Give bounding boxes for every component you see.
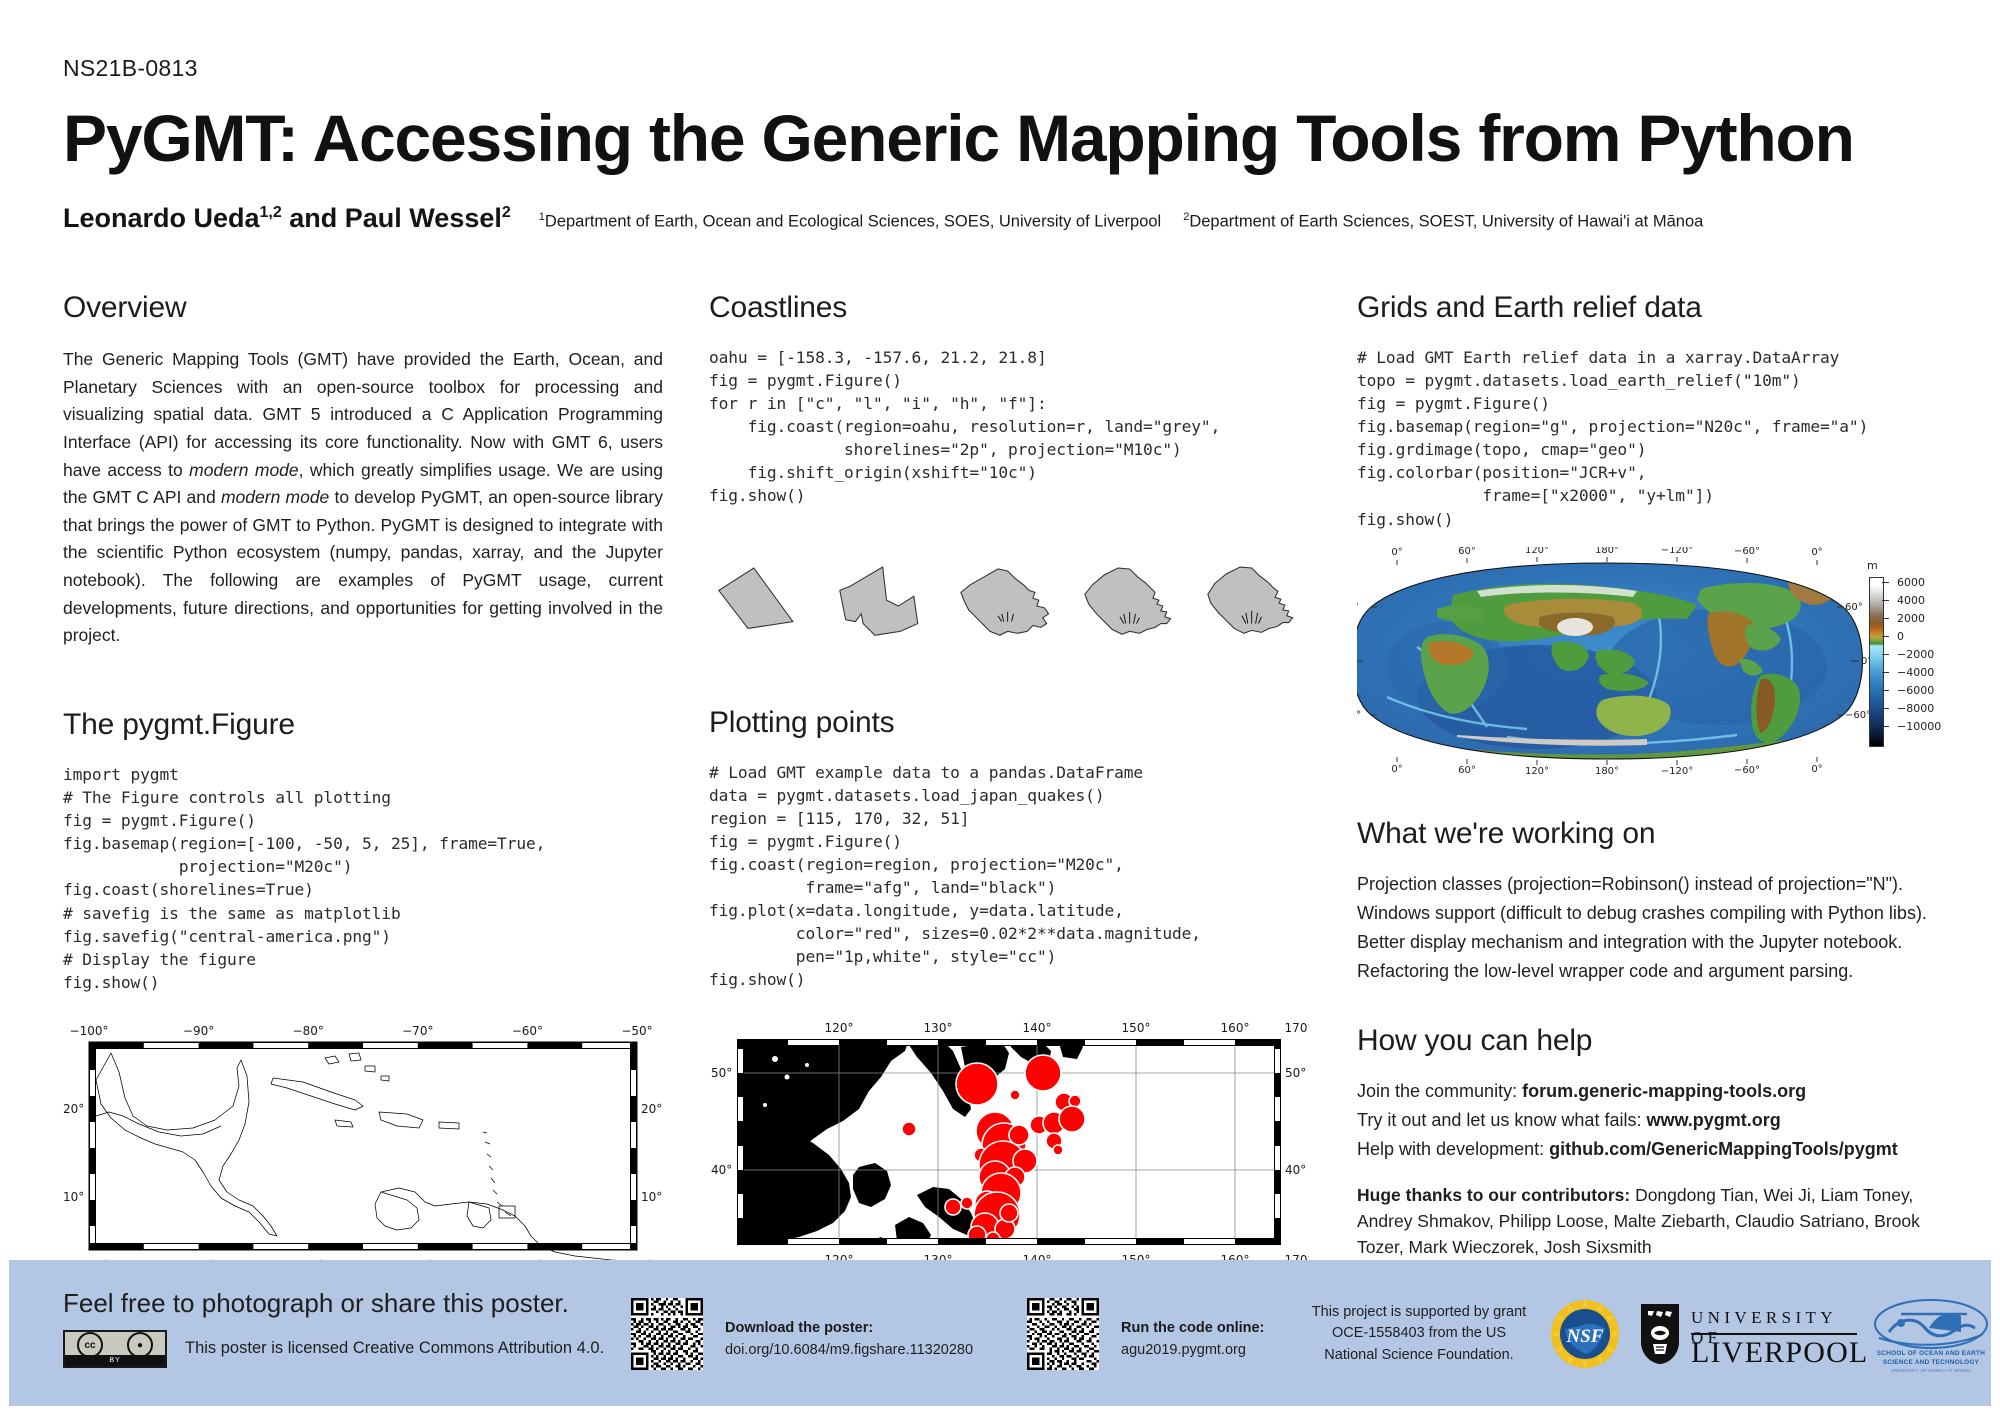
- central-america-map: −100°−90° −80°−70° −60°−50° −100°−90° −8…: [63, 1020, 663, 1273]
- colorbar-label-0: 0: [1897, 630, 1904, 643]
- affil-2-text: Department of Earth Sciences, SOEST, Uni…: [1189, 213, 1703, 231]
- soest-line-1: SCHOOL OF OCEAN AND EARTH SCIENCE AND TE…: [1871, 1350, 1991, 1367]
- working-on-item-2: Windows support (difficult to debug cras…: [1357, 899, 1957, 928]
- japan-quakes-map: 120°130°140° 150°160°170° 120°130°140° 1…: [709, 1017, 1309, 1269]
- author-list: Leonardo Ueda1,2 and Paul Wessel2: [63, 203, 511, 234]
- qr-code-runcode-icon[interactable]: [1027, 1298, 1099, 1370]
- svg-text:40°: 40°: [711, 1163, 732, 1177]
- share-poster-title: Feel free to photograph or share this po…: [63, 1288, 569, 1319]
- svg-text:130°: 130°: [924, 1021, 953, 1035]
- overview-emphasis-2: modern mode: [221, 487, 329, 507]
- svg-text:20°: 20°: [641, 1102, 662, 1116]
- svg-text:−90°: −90°: [183, 1024, 214, 1038]
- soest-line-2: UNIVERSITY OF HAWAI'I AT MANOA: [1871, 1368, 1991, 1373]
- svg-text:0°: 0°: [1391, 764, 1402, 775]
- svg-text:180°: 180°: [1595, 766, 1619, 775]
- svg-text:170°: 170°: [1285, 1021, 1309, 1035]
- working-on-item-4: Refactoring the low-level wrapper code a…: [1357, 957, 1957, 986]
- university-of-liverpool-logo: UNIVERSITY OF LIVERPOOL: [1639, 1300, 1859, 1370]
- license-text: This poster is licensed Creative Commons…: [185, 1339, 604, 1358]
- help-label-development: Help with development:: [1357, 1139, 1549, 1159]
- svg-text:0°: 0°: [1391, 547, 1402, 558]
- colorbar-label-minus10000: −10000: [1897, 720, 1941, 733]
- author-ueda: Leonardo Ueda: [63, 203, 260, 233]
- section-heading-overview: Overview: [63, 291, 663, 324]
- qr-code-poster[interactable]: [631, 1298, 703, 1375]
- svg-text:0°: 0°: [1811, 764, 1822, 775]
- svg-text:−60°: −60°: [512, 1024, 543, 1038]
- affil-1-text: Department of Earth, Ocean and Ecologica…: [545, 213, 1161, 231]
- overview-paragraph: The Generic Mapping Tools (GMT) have pro…: [63, 346, 663, 650]
- section-heading-pygmt-figure: The pygmt.Figure: [63, 708, 663, 741]
- code-block-grids: # Load GMT Earth relief data in a xarray…: [1357, 346, 1957, 531]
- oahu-resolution-f: [1202, 562, 1309, 652]
- code-block-pygmt-figure: import pygmt # The Figure controls all p…: [63, 763, 663, 994]
- svg-text:−120°: −120°: [1661, 766, 1693, 775]
- svg-text:60°: 60°: [1458, 765, 1476, 775]
- help-label-community: Join the community:: [1357, 1081, 1522, 1101]
- qr-poster-doi: doi.org/10.6084/m9.figshare.11320280: [725, 1342, 973, 1358]
- oahu-resolution-i: [955, 562, 1062, 652]
- cc-by-label: BY: [65, 1355, 165, 1366]
- section-heading-working-on: What we're working on: [1357, 817, 1957, 850]
- svg-text:60°: 60°: [1458, 547, 1476, 557]
- help-links-list: Join the community: forum.generic-mappin…: [1357, 1077, 1957, 1163]
- overview-emphasis-1: modern mode: [189, 460, 299, 480]
- earth-relief-map-svg: 0°60°120° 180°−120°−60° 0° 0°60°120° 180…: [1357, 547, 1957, 775]
- svg-text:−120°: −120°: [1661, 547, 1693, 556]
- qr-code-runcode[interactable]: [1027, 1298, 1099, 1375]
- section-heading-grids: Grids and Earth relief data: [1357, 291, 1957, 324]
- colorbar-unit-label: m: [1867, 559, 1878, 572]
- cc-icon-label: cc: [84, 1340, 95, 1351]
- oahu-coastline-series: [709, 542, 1309, 652]
- colorbar-label-minus8000: −8000: [1897, 702, 1934, 715]
- liverpool-shield-icon: [1639, 1302, 1681, 1366]
- grant-acknowledgement: This project is supported by grant OCE-1…: [1304, 1302, 1534, 1366]
- help-line-development: Help with development: github.com/Generi…: [1357, 1135, 1957, 1164]
- section-heading-how-to-help: How you can help: [1357, 1024, 1957, 1057]
- svg-text:10°: 10°: [641, 1190, 662, 1204]
- oahu-resolution-l: [832, 562, 939, 652]
- section-heading-coastlines: Coastlines: [709, 291, 1309, 324]
- poster-footer: Feel free to photograph or share this po…: [9, 1260, 1991, 1406]
- section-heading-plotting-points: Plotting points: [709, 706, 1309, 739]
- colorbar: [1869, 577, 1884, 747]
- author-wessel-affil-sup: 2: [502, 204, 511, 221]
- svg-text:50°: 50°: [711, 1066, 732, 1080]
- svg-text:−60°: −60°: [1734, 547, 1760, 557]
- help-link-pygmt[interactable]: www.pygmt.org: [1646, 1110, 1780, 1130]
- svg-text:60°: 60°: [1845, 602, 1863, 613]
- liverpool-divider: [1691, 1333, 1857, 1335]
- colorbar-label-6000: 6000: [1897, 576, 1925, 589]
- svg-text:−70°: −70°: [402, 1024, 433, 1038]
- nsf-logo-label: NSF: [1566, 1326, 1604, 1347]
- author-ueda-affil-sup: 1,2: [260, 204, 282, 221]
- code-block-plotting-points: # Load GMT example data to a pandas.Data…: [709, 761, 1309, 992]
- nsf-logo: NSF: [1549, 1298, 1621, 1370]
- svg-text:−80°: −80°: [293, 1024, 324, 1038]
- svg-text:60°: 60°: [1357, 602, 1359, 613]
- author-conjunction: and Paul Wessel: [282, 203, 502, 233]
- svg-text:−60°: −60°: [1845, 710, 1871, 721]
- colorbar-label-minus6000: −6000: [1897, 684, 1934, 697]
- abstract-id: NS21B-0813: [63, 55, 1937, 82]
- colorbar-label-2000: 2000: [1897, 612, 1925, 625]
- column-right: Grids and Earth relief data # Load GMT E…: [1357, 291, 1957, 1260]
- poster-canvas: NS21B-0813 PyGMT: Accessing the Generic …: [0, 0, 2000, 1415]
- japan-quakes-map-svg: 120°130°140° 150°160°170° 120°130°140° 1…: [709, 1017, 1309, 1269]
- code-block-coastlines: oahu = [-158.3, -157.6, 21.2, 21.8] fig …: [709, 346, 1309, 508]
- working-on-item-1: Projection classes (projection=Robinson(…: [1357, 870, 1957, 899]
- svg-text:0°: 0°: [1811, 547, 1822, 558]
- earth-relief-map: 0°60°120° 180°−120°−60° 0° 0°60°120° 180…: [1357, 547, 1957, 775]
- svg-text:−100°: −100°: [70, 1024, 109, 1038]
- oahu-resolution-h: [1079, 562, 1186, 652]
- help-link-github[interactable]: github.com/GenericMappingTools/pygmt: [1549, 1139, 1898, 1159]
- poster-header: NS21B-0813 PyGMT: Accessing the Generic …: [63, 55, 1937, 234]
- working-on-list: Projection classes (projection=Robinson(…: [1357, 870, 1957, 987]
- qr-code-poster-icon[interactable]: [631, 1298, 703, 1370]
- colorbar-label-minus2000: −2000: [1897, 648, 1934, 661]
- contributors-block: Huge thanks to our contributors: Dongdon…: [1357, 1182, 1957, 1261]
- creative-commons-badge: cc ● BY: [63, 1330, 167, 1368]
- svg-text:10°: 10°: [63, 1190, 84, 1204]
- working-on-item-3: Better display mechanism and integration…: [1357, 928, 1957, 957]
- help-link-forum[interactable]: forum.generic-mapping-tools.org: [1522, 1081, 1806, 1101]
- column-middle: Coastlines oahu = [-158.3, -157.6, 21.2,…: [709, 291, 1309, 1269]
- qr-runcode-caption: Run the code online:: [1121, 1320, 1264, 1336]
- oahu-resolution-c: [709, 562, 816, 652]
- help-line-community: Join the community: forum.generic-mappin…: [1357, 1077, 1957, 1106]
- svg-text:180°: 180°: [1595, 547, 1619, 556]
- svg-text:140°: 140°: [1023, 1021, 1052, 1035]
- central-america-map-svg: −100°−90° −80°−70° −60°−50° −100°−90° −8…: [63, 1020, 663, 1273]
- help-label-tryout: Try it out and let us know what fails:: [1357, 1110, 1646, 1130]
- svg-text:50°: 50°: [1285, 1066, 1306, 1080]
- svg-text:120°: 120°: [1525, 766, 1549, 775]
- contributors-label: Huge thanks to our contributors:: [1357, 1185, 1630, 1205]
- svg-text:−60°: −60°: [1357, 710, 1361, 721]
- affiliations: 1Department of Earth, Ocean and Ecologic…: [539, 211, 1704, 232]
- soest-logo: SCHOOL OF OCEAN AND EARTH SCIENCE AND TE…: [1871, 1298, 1991, 1374]
- page-title: PyGMT: Accessing the Generic Mapping Too…: [63, 104, 1937, 173]
- svg-text:150°: 150°: [1122, 1021, 1151, 1035]
- svg-text:−60°: −60°: [1734, 765, 1760, 775]
- svg-text:160°: 160°: [1221, 1021, 1250, 1035]
- overview-part-3: to develop PyGMT, an open-source library…: [63, 487, 663, 645]
- svg-text:120°: 120°: [825, 1021, 854, 1035]
- svg-text:40°: 40°: [1285, 1163, 1306, 1177]
- svg-text:−50°: −50°: [621, 1024, 652, 1038]
- help-line-tryout: Try it out and let us know what fails: w…: [1357, 1106, 1957, 1135]
- colorbar-label-4000: 4000: [1897, 594, 1925, 607]
- svg-text:20°: 20°: [63, 1102, 84, 1116]
- colorbar-label-minus4000: −4000: [1897, 666, 1934, 679]
- authors-row: Leonardo Ueda1,2 and Paul Wessel2 1Depar…: [63, 203, 1937, 234]
- svg-text:120°: 120°: [1525, 547, 1549, 556]
- qr-runcode-url: agu2019.pygmt.org: [1121, 1342, 1246, 1358]
- column-left: Overview The Generic Mapping Tools (GMT)…: [63, 291, 663, 1273]
- soest-logo-icon: [1871, 1298, 1991, 1350]
- qr-poster-caption: Download the poster:: [725, 1320, 873, 1336]
- liverpool-line-2: LIVERPOOL: [1691, 1336, 1868, 1370]
